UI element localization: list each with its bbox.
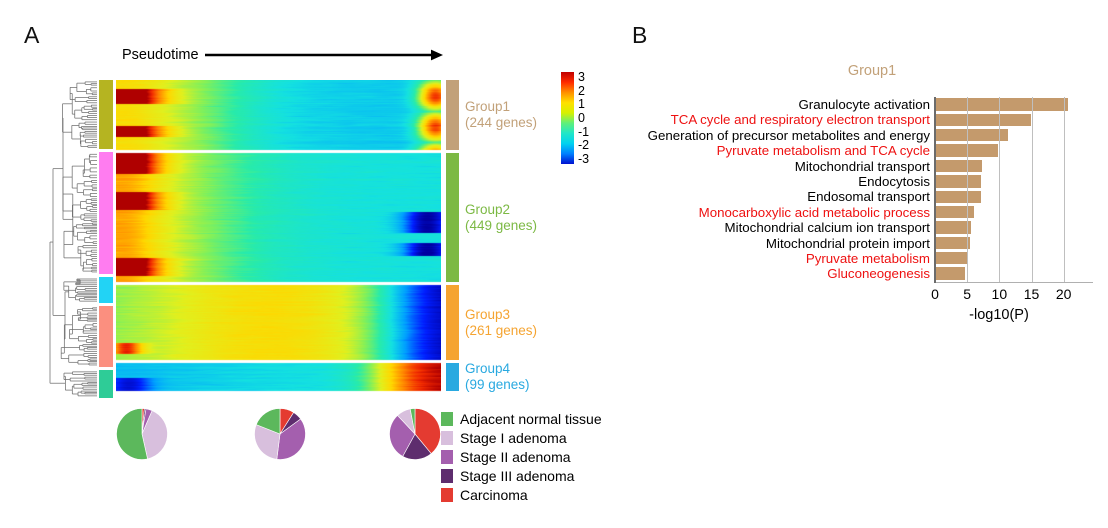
row-cluster-annotation-bar xyxy=(99,80,113,398)
bar-x-tick-label: 15 xyxy=(1024,286,1040,302)
row-cluster-block xyxy=(99,152,113,274)
legend-label: Stage II adenoma xyxy=(460,450,571,464)
row-cluster-block xyxy=(99,370,113,398)
bar-term-label: Monocarboxylic acid metabolic process xyxy=(630,205,935,220)
pseudotime-axis: Pseudotime xyxy=(122,46,458,64)
group-label-name: Group3 xyxy=(465,307,537,323)
bar-term-label: Pyruvate metabolism xyxy=(630,251,935,266)
group-label-2: Group2(449 genes) xyxy=(465,202,537,234)
group-label-count: (99 genes) xyxy=(465,377,530,393)
legend-swatch xyxy=(441,450,453,464)
pie-early-pseudotime xyxy=(115,407,169,461)
legend-swatch xyxy=(441,412,453,426)
legend-label: Stage I adenoma xyxy=(460,431,567,445)
group-label-1: Group1(244 genes) xyxy=(465,99,537,131)
pseudotime-label: Pseudotime xyxy=(122,47,199,63)
bar-gridline xyxy=(999,97,1000,282)
legend-label: Carcinoma xyxy=(460,488,528,502)
panel-b-letter: B xyxy=(632,22,647,49)
group-annotation-block-1 xyxy=(446,80,459,150)
group-label-count: (449 genes) xyxy=(465,218,537,234)
row-cluster-block xyxy=(99,80,113,149)
bar-term-label: Pyruvate metabolism and TCA cycle xyxy=(630,143,935,158)
row-cluster-block xyxy=(99,306,113,367)
bar-term-label: Endocytosis xyxy=(630,174,935,189)
color-scale-tick: 1 xyxy=(578,98,585,111)
row-cluster-block xyxy=(99,277,113,303)
color-scale-tick: 2 xyxy=(578,84,585,97)
bar-term-label: Mitochondrial calcium ion transport xyxy=(630,220,935,235)
bar-term-label: Gluconeogenesis xyxy=(630,266,935,281)
bar-x-tick-label: 0 xyxy=(931,286,939,302)
bar-term-label: Granulocyte activation xyxy=(630,97,935,112)
bar-x-axis-line xyxy=(935,282,1093,284)
group-labels: Group1(244 genes)Group2(449 genes)Group3… xyxy=(465,80,575,398)
bar-x-axis-ticks: 05101520 xyxy=(935,286,1085,306)
legend-label: Stage III adenoma xyxy=(460,469,574,483)
bar-plot-area xyxy=(935,97,1085,282)
color-scale-ticks: 3210-1-2-3 xyxy=(578,72,608,164)
group-label-count: (244 genes) xyxy=(465,115,537,131)
group-label-4: Group4(99 genes) xyxy=(465,361,530,393)
bar-gridline xyxy=(1064,97,1065,282)
group-annotation-block-2 xyxy=(446,153,459,282)
legend-label: Adjacent normal tissue xyxy=(460,412,602,426)
color-scale-tick: -1 xyxy=(578,125,589,138)
legend-swatch xyxy=(441,469,453,483)
expression-heatmap xyxy=(116,80,441,398)
group-label-3: Group3(261 genes) xyxy=(465,307,537,339)
bar-term-label: Generation of precursor metabolites and … xyxy=(630,128,935,143)
pie-mid-pseudotime xyxy=(253,407,307,461)
pie-chart-group xyxy=(110,404,440,466)
group-label-count: (261 genes) xyxy=(465,323,537,339)
legend-item: Carcinoma xyxy=(441,485,641,504)
legend-item: Adjacent normal tissue xyxy=(441,409,641,428)
legend-item: Stage III adenoma xyxy=(441,466,641,485)
bar-x-axis-label: -log10(P) xyxy=(935,307,1063,323)
legend-swatch xyxy=(441,431,453,445)
legend-item: Stage I adenoma xyxy=(441,428,641,447)
color-scale-gradient xyxy=(561,72,574,164)
group-annotation-block-3 xyxy=(446,285,459,360)
bar-term-label: TCA cycle and respiratory electron trans… xyxy=(630,112,935,127)
pie-late-pseudotime xyxy=(388,407,442,461)
bar-x-tick-label: 20 xyxy=(1056,286,1072,302)
bar-x-tick-label: 10 xyxy=(992,286,1008,302)
bar-gridline xyxy=(1032,97,1033,282)
enrichment-bar-chart: Granulocyte activationTCA cycle and resp… xyxy=(630,97,1085,322)
color-scale-tick: -2 xyxy=(578,139,589,152)
heatmap-color-scale: 3210-1-2-3 xyxy=(561,72,611,164)
bar-gridline xyxy=(967,97,968,282)
bar-term-label: Mitochondrial transport xyxy=(630,159,935,174)
bar-chart-title: Group1 xyxy=(782,63,962,79)
group-label-name: Group1 xyxy=(465,99,537,115)
row-dendrogram xyxy=(48,80,98,398)
panel-a-letter: A xyxy=(24,22,39,49)
bar-term-label: Endosomal transport xyxy=(630,189,935,204)
color-scale-tick: 0 xyxy=(578,112,585,125)
legend-swatch xyxy=(441,488,453,502)
bar-x-tick-label: 5 xyxy=(963,286,971,302)
bar-term-label: Mitochondrial protein import xyxy=(630,236,935,251)
color-scale-tick: -3 xyxy=(578,153,589,166)
legend-item: Stage II adenoma xyxy=(441,447,641,466)
stage-legend: Adjacent normal tissueStage I adenomaSta… xyxy=(441,409,641,504)
group-label-name: Group4 xyxy=(465,361,530,377)
bar-y-axis-line xyxy=(934,97,936,283)
pseudotime-arrow-icon xyxy=(205,49,458,61)
color-scale-tick: 3 xyxy=(578,71,585,84)
group-label-name: Group2 xyxy=(465,202,537,218)
group-annotation-block-4 xyxy=(446,363,459,391)
group-annotation-bar xyxy=(446,80,459,398)
